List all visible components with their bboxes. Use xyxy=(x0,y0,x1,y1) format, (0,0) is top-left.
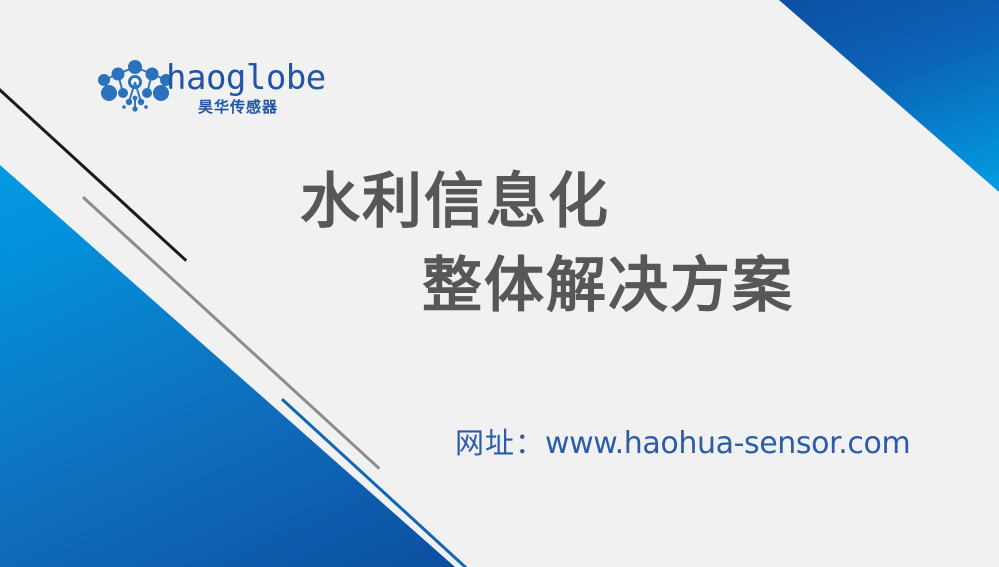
page-title: 水利信息化 整体解决方案 xyxy=(300,160,900,328)
haoglobe-network-dots-icon xyxy=(96,60,174,116)
diagonal-line-blue xyxy=(281,398,476,567)
logo-text-group: haoglobe 昊华传感器 xyxy=(166,58,311,120)
title-line-2: 整体解决方案 xyxy=(422,244,900,328)
logo-chinese-name: 昊华传感器 xyxy=(198,96,278,117)
website-label: 网址： xyxy=(455,426,545,460)
company-logo: haoglobe 昊华传感器 xyxy=(96,58,311,122)
website-line: 网址：www.haohua-sensor.com xyxy=(455,420,910,462)
logo-wordmark: haoglobe xyxy=(166,58,326,98)
website-url[interactable]: www.haohua-sensor.com xyxy=(545,426,910,461)
title-line-1: 水利信息化 xyxy=(300,160,900,244)
title-slide: haoglobe 昊华传感器 水利信息化 整体解决方案 网址：www.haohu… xyxy=(0,0,999,567)
